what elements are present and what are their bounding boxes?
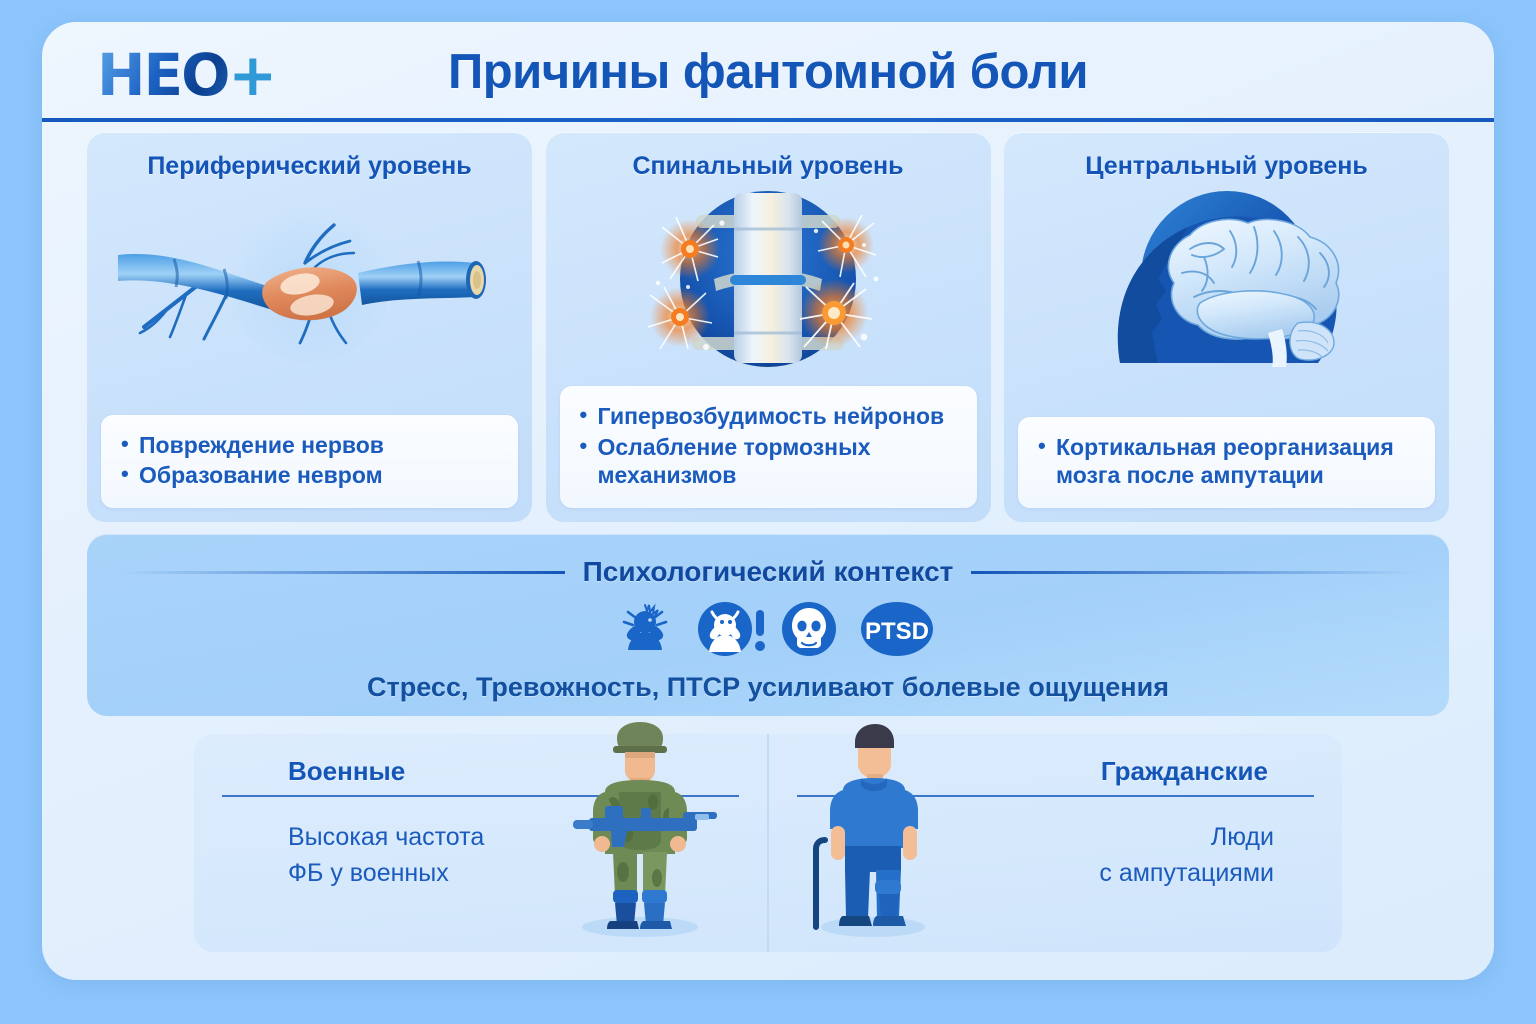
- psychological-context-header: Психологический контекст: [87, 534, 1449, 588]
- psychological-context-panel: Психологический контекст: [87, 534, 1449, 716]
- psychological-context-title: Психологический контекст: [583, 556, 954, 588]
- nerve-neuroma-icon: [87, 187, 532, 367]
- psychological-context-caption: Стресс, Тревожность, ПТСР усиливают боле…: [87, 672, 1449, 703]
- civilian-illustration: [787, 722, 957, 942]
- fact-item: Повреждение нервов: [117, 431, 502, 460]
- population-groups-panel: Военные Высокая частота ФБ у военных: [194, 734, 1342, 952]
- fact-item: Образование невром: [117, 461, 502, 490]
- fact-item: Гипервозбудимость нейронов: [576, 402, 961, 431]
- facts-peripheral: Повреждение нервов Образование невром: [101, 415, 518, 509]
- level-card-spinal: Спинальный уровень: [546, 132, 991, 522]
- fact-item: Кортикальная реорганизация мозга после а…: [1034, 433, 1419, 491]
- facts-central: Кортикальная реорганизация мозга после а…: [1018, 417, 1435, 509]
- ptsd-label: PTSD: [865, 618, 929, 645]
- page-title: Причины фантомной боли: [42, 44, 1494, 100]
- level-title-spinal: Спинальный уровень: [546, 152, 991, 181]
- facts-spinal: Гипервозбудимость нейронов Ослабление то…: [560, 386, 977, 508]
- header-divider: [42, 118, 1494, 122]
- ptsd-badge-icon: PTSD: [860, 598, 922, 660]
- psychological-icons-row: PTSD: [87, 598, 1449, 660]
- divider-left: [119, 571, 565, 574]
- level-title-central: Центральный уровень: [1004, 152, 1449, 181]
- level-card-central: Центральный уровень: [1004, 132, 1449, 522]
- infographic-poster: НЕО+ Причины фантомной боли Периферическ…: [42, 22, 1494, 980]
- level-title-peripheral: Периферический уровень: [87, 152, 532, 181]
- stressed-person-icon: [614, 598, 676, 660]
- spine-neurons-icon: [546, 187, 991, 367]
- soldier-illustration: [545, 722, 735, 942]
- skull-icon: [778, 598, 840, 660]
- level-card-peripheral: Периферический уровень: [87, 132, 532, 522]
- divider-right: [971, 571, 1417, 574]
- poster-header: НЕО+ Причины фантомной боли: [42, 22, 1494, 118]
- anxious-person-exclamation-icon: [696, 598, 758, 660]
- levels-row: Периферический уровень: [42, 132, 1494, 522]
- head-brain-icon: [1004, 187, 1449, 367]
- group-civilian: Гражданские Люди с ампутациями: [769, 734, 1342, 952]
- group-military: Военные Высокая частота ФБ у военных: [194, 734, 769, 952]
- fact-item: Ослабление тормозных механизмов: [576, 433, 961, 491]
